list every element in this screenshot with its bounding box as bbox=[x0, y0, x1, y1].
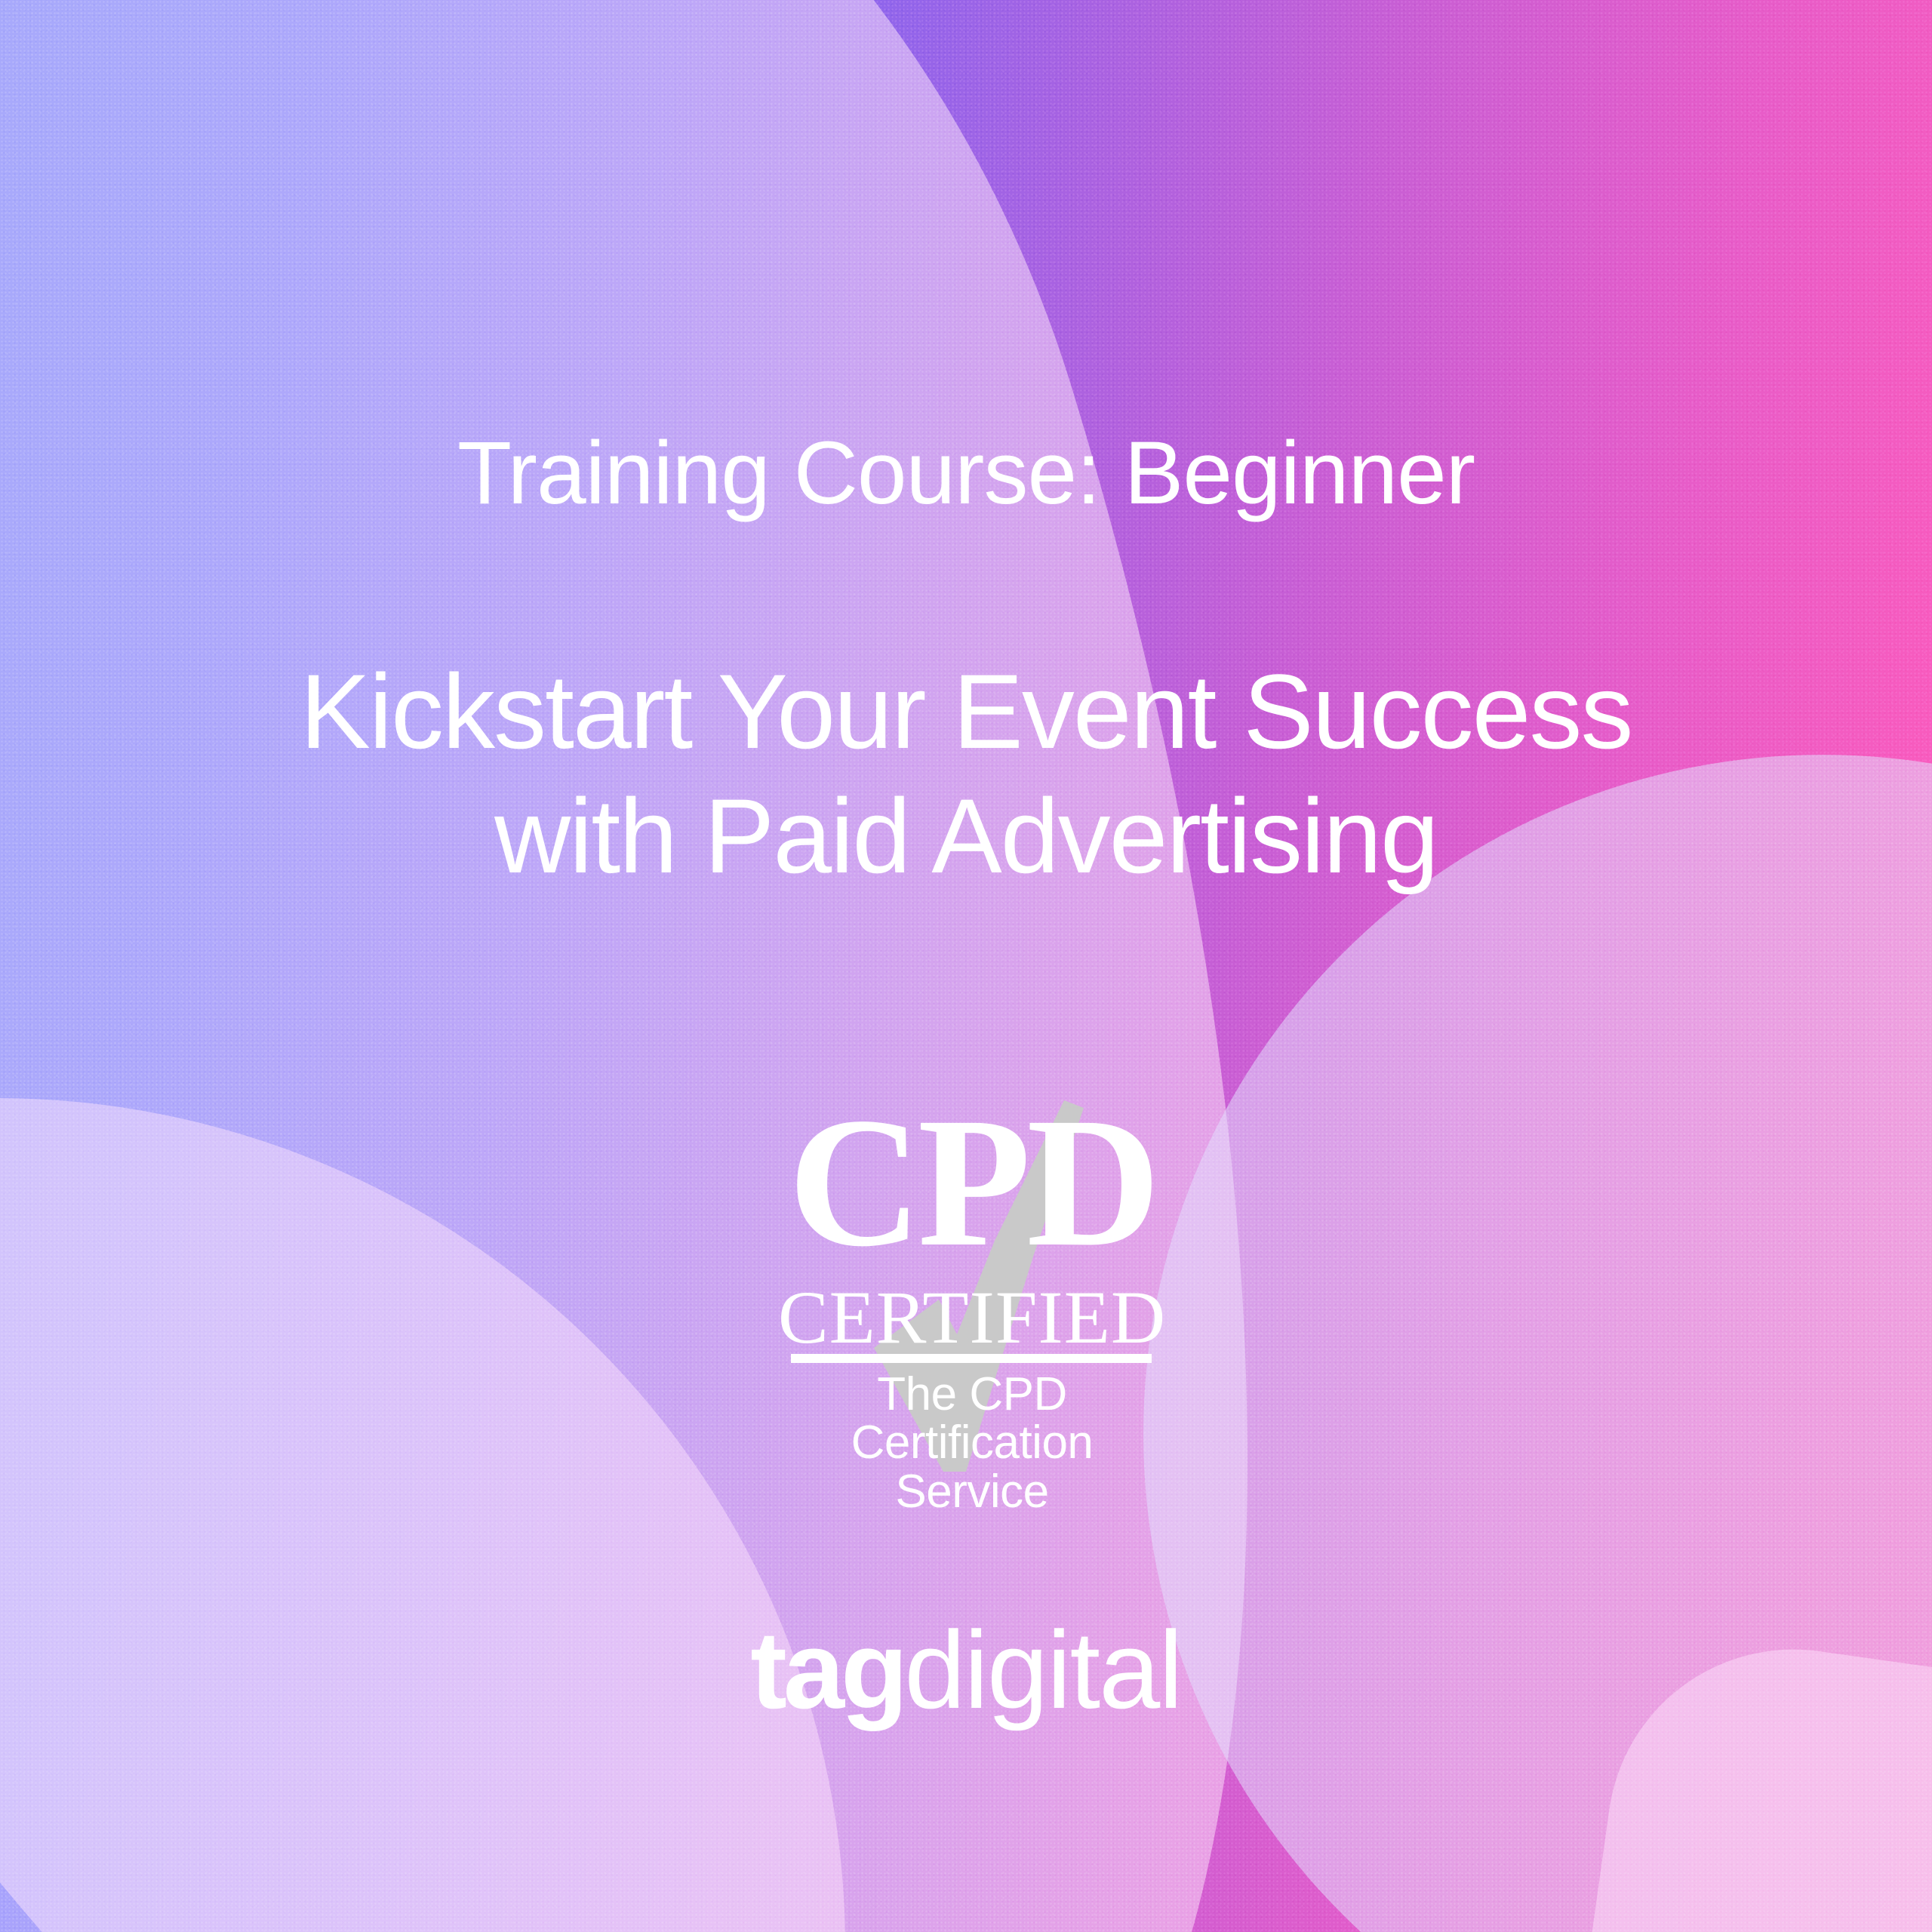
content-layer: Training Course: Beginner Kickstart Your… bbox=[0, 0, 1932, 1932]
cpd-certified-word: CERTIFIED bbox=[768, 1280, 1176, 1355]
cpd-certified-badge: CPD CERTIFIED The CPD Certification Serv… bbox=[768, 1079, 1176, 1502]
course-level-eyebrow: Training Course: Beginner bbox=[0, 423, 1932, 525]
headline-line-1: Kickstart Your Event Success bbox=[0, 649, 1932, 774]
headline: Kickstart Your Event Success with Paid A… bbox=[0, 649, 1932, 898]
cpd-service-name: The CPD Certification Service bbox=[762, 1371, 1182, 1516]
cpd-service-line-2: Service bbox=[762, 1468, 1182, 1516]
tag-digital-logo: tagdigital bbox=[0, 1615, 1932, 1725]
cpd-letters: CPD bbox=[768, 1090, 1176, 1275]
logo-word-digital: digital bbox=[904, 1608, 1181, 1731]
cpd-service-line-1: The CPD Certification bbox=[762, 1371, 1182, 1468]
promo-graphic: Training Course: Beginner Kickstart Your… bbox=[0, 0, 1932, 1932]
logo-word-tag: tag bbox=[750, 1608, 904, 1731]
headline-line-2: with Paid Advertising bbox=[0, 774, 1932, 898]
cpd-divider-rule bbox=[791, 1354, 1152, 1363]
